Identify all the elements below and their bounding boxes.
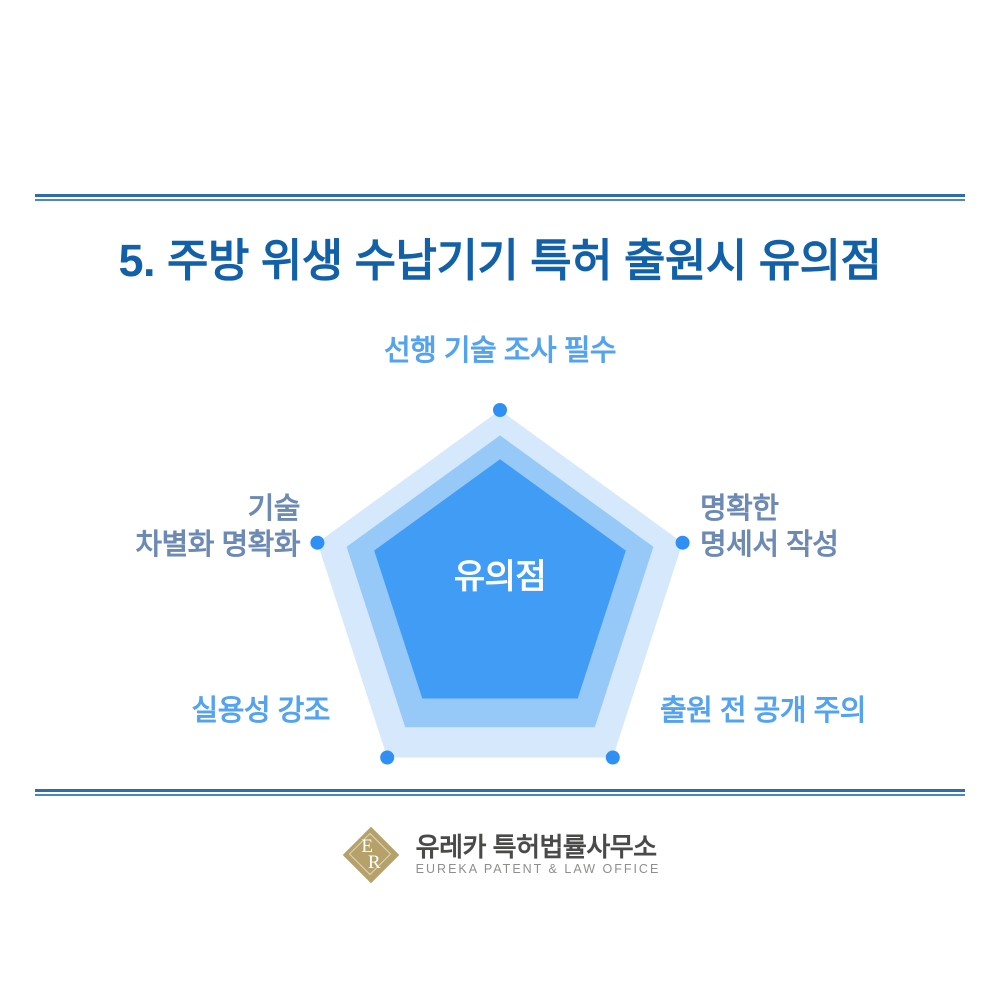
divider-top xyxy=(35,194,965,201)
radar-vertex-dot-left xyxy=(310,536,324,550)
radar-axis-label-bottom-left: 실용성 강조 xyxy=(40,694,330,730)
page-title: 5. 주방 위생 수납기기 특허 출원시 유의점 xyxy=(0,224,1000,289)
divider-bottom xyxy=(35,789,965,796)
monogram-letters: ER xyxy=(340,824,402,886)
slide-root: 5. 주방 위생 수납기기 특허 출원시 유의점 유의점 선행 기술 조사 필수… xyxy=(0,0,1000,1000)
divider-bottom-thick-rule xyxy=(35,789,965,792)
divider-top-thick-rule xyxy=(35,194,965,197)
divider-bottom-thin-rule xyxy=(35,794,965,796)
radar-axis-label-right: 명확한 명세서 작성 xyxy=(700,492,960,564)
monogram-letter-r: R xyxy=(368,855,381,871)
logo-text-block: 유레카 특허법률사무소 EUREKA PATENT & LAW OFFICE xyxy=(416,834,661,876)
radar-vertex-dot-top xyxy=(493,403,507,417)
divider-top-thin-rule xyxy=(35,199,965,201)
company-name-english: EUREKA PATENT & LAW OFFICE xyxy=(416,863,661,876)
radar-vertex-dot-bottom-left xyxy=(380,751,394,765)
radar-vertex-dot-right xyxy=(676,536,690,550)
footer-logo: ER 유레카 특허법률사무소 EUREKA PATENT & LAW OFFIC… xyxy=(0,824,1000,886)
radar-vertex-dot-bottom-right xyxy=(606,751,620,765)
company-name-korean: 유레카 특허법률사무소 xyxy=(416,834,661,861)
radar-axis-label-bottom-right: 출원 전 공개 주의 xyxy=(660,694,960,730)
diamond-monogram-icon: ER xyxy=(340,824,402,886)
radar-axis-label-top: 선행 기술 조사 필수 xyxy=(0,334,1000,370)
radar-axis-label-left: 기술 차별화 명확화 xyxy=(20,492,300,564)
